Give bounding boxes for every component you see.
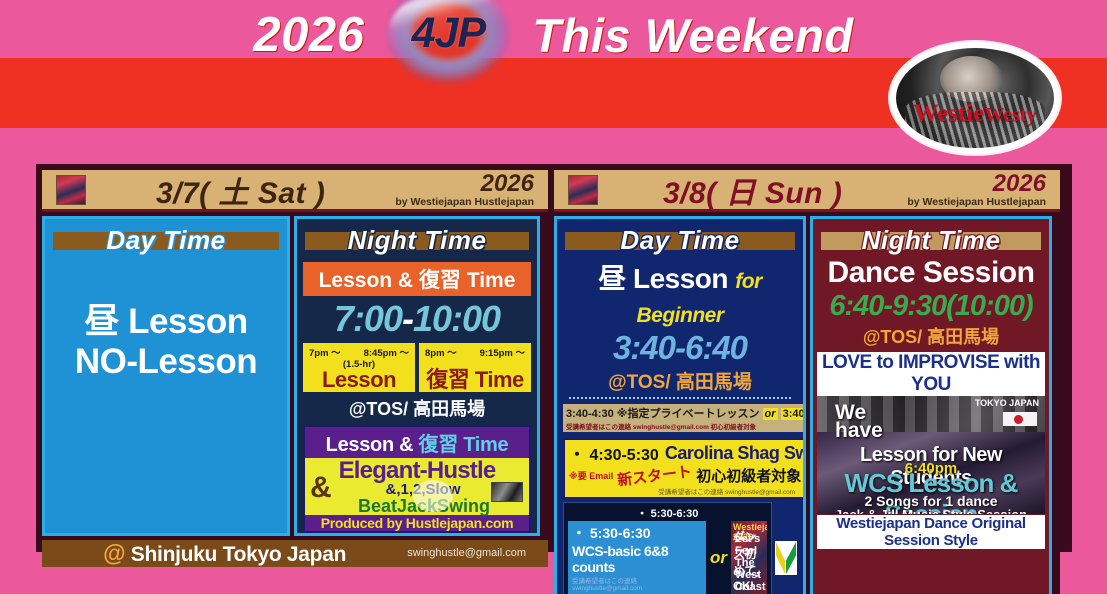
sunday-night-venue: @TOS/ 高田馬場 [813, 323, 1049, 349]
sunday-thumbnail-icon [568, 175, 598, 205]
sunday-carolina-level: 初心初級者対象 [696, 465, 801, 486]
sunday-lesson-row-1-content: 3:40-4:30 ※指定プライベートレッスン or 3:40-4:30 リズム… [563, 404, 806, 432]
saturday-nighttime-column: Night Time Lesson & 復習 Time 7:00-10:00 7… [294, 216, 540, 536]
sunday-header-right: 2026 by Westiejapan Hustlejapan [907, 171, 1046, 207]
saturday-lesson-times: 7pm ～ 8:45pm ～ [306, 345, 412, 359]
sunday-solo-step-photo: Westiejapan 2026 Let's Feel The West Coa… [731, 521, 767, 594]
sunday-date: 3/8( 日 Sun ) [598, 168, 907, 212]
saturday-lesson-time-2: 8:45pm ～ [364, 345, 409, 359]
sunday-row1-label-a: ※指定プライベートレッスン [617, 408, 760, 420]
sunday-daytime-ribbon-label: Day Time [620, 225, 739, 255]
sunday-private-lesson-line: 3:40-4:30 ※指定プライベートレッスン or 3:40-4:30 リズム… [566, 405, 806, 421]
saturday-night-time-start: 7:00 [334, 298, 402, 339]
sunday-daytime-heading-jp: 昼 Lesson [598, 263, 728, 294]
saturday-lesson-label: Lesson [306, 370, 412, 391]
sunday-wcs-bluebox: ・ 5:30-6:30 WCS-basic 6&8 counts 受講希望者はこ… [568, 521, 706, 594]
saturday-lesson-box: 7pm ～ 8:45pm ～ (1.5-hr) Lesson [303, 343, 415, 392]
sunday-lesson-row-2: ・ 4:30-5:30 Carolina Shag Swing Basic ※要… [563, 438, 797, 499]
saturday-night-time-end: 10:00 [413, 298, 500, 339]
sunday-we-have-label: Wehave [835, 404, 883, 440]
sunday-wcs-note: 受講希望者はこの連絡 swinghustle@gmail.com [572, 575, 702, 592]
saturday-yellow-boxes: 7pm ～ 8:45pm ～ (1.5-hr) Lesson 8pm ～ 9:1… [303, 343, 531, 392]
saturday-purple-title: Lesson & 復習 Time [305, 427, 529, 458]
saturday-header-right: 2026 by Westiejapan Hustlejapan [395, 171, 534, 207]
saturday-body: Day Time 昼 Lesson NO-Lesson Night Time L… [42, 212, 548, 540]
sunday-carolina-shag-row: ・ 4:30-5:30 Carolina Shag Swing Basic ※要… [563, 438, 806, 499]
saturday-purple-circle-decor [413, 480, 453, 512]
sunday-daytime-ribbon: Day Time [565, 225, 795, 256]
saturday-daytime-text: 昼 Lesson NO-Lesson [45, 302, 287, 383]
saturday-byline: by Westiejapan Hustlejapan [395, 197, 534, 208]
saturday-daytime-column: Day Time 昼 Lesson NO-Lesson [42, 216, 290, 536]
saturday-review-times: 8pm ～ 9:15pm ～ [422, 345, 528, 359]
sunday-wcs-inner: ・ 5:30-6:30 WCS-basic 6&8 counts 受講希望者はこ… [568, 521, 767, 594]
saturday-review-label: 復習 Time [422, 370, 528, 391]
sunday-daytime-venue: @TOS/ 高田馬場 [557, 367, 803, 394]
saturday-lesson-time-1: 7pm ～ [309, 345, 341, 359]
saturday-nighttime-ribbon-label: Night Time [348, 225, 487, 255]
sunday-night-time: 6:40-9:30(10:00) [813, 290, 1049, 323]
saturday-email: swinghustle@gmail.com [407, 547, 526, 559]
saturday-daytime-line1: 昼 Lesson [45, 302, 287, 342]
saturday-elegant-hustle-label: Elegant-Hustle [305, 459, 529, 483]
saturday-elegant-hustle-block: Lesson & 復習 Time & Elegant-Hustle &,1,2,… [303, 425, 531, 533]
logo-text-light: Westy [984, 104, 1036, 126]
sunday-year: 2026 [907, 171, 1046, 196]
saturday-purple-thumbnail-icon [491, 482, 523, 502]
flyer-page: 2026 4JP This Weekend WestieWesty 3/7( 土… [0, 0, 1107, 594]
sunday-daytime-column: Day Time 昼 Lesson for Beginner 3:40-6:40… [554, 216, 806, 594]
sunday-panel: 3/8( 日 Sun ) 2026 by Westiejapan Hustlej… [554, 170, 1060, 546]
sunday-daytime-time: 3:40-6:40 [557, 329, 803, 367]
sunday-lesson-row-1: 3:40-4:30 ※指定プライベートレッスン or 3:40-4:30 リズム… [563, 401, 797, 435]
sunday-nighttime-ribbon-label: Night Time [862, 225, 1001, 255]
saturday-review-label-jp: 復習 [426, 367, 469, 392]
saturday-lesson-bar: Lesson & 復習 Time [303, 262, 531, 296]
saturday-purple-body: & Elegant-Hustle &,1,2,Slow BeatJackSwin… [305, 458, 529, 515]
chevron-beginner-mark-icon-3 [775, 541, 797, 575]
saturday-header: 3/7( 土 Sat ) 2026 by Westiejapan Hustlej… [42, 170, 548, 212]
sunday-lesson-row-2-content: ・ 4:30-5:30 Carolina Shag Swing Basic ※要… [563, 438, 806, 499]
sunday-love-improvise-bar: LOVE to IMPROVISE with YOU [817, 352, 1045, 396]
saturday-review-label-en: Time [475, 367, 524, 392]
sunday-tokyo-japan-label: TOKYO JAPAN [975, 398, 1039, 408]
sunday-night-photo-block: Definitely Skills Up TOKYO JAPAN Wehave … [817, 396, 1045, 514]
banner-title: This Weekend [532, 12, 853, 59]
sunday-wcs-or: or [710, 548, 727, 568]
sunday-wcs-basic-row: ・ 5:30-6:30 ・ 5:30-6:30 WCS-basic 6&8 co… [563, 502, 772, 594]
westie-westy-logo: WestieWesty [890, 42, 1060, 154]
sunday-carolina-email-note: ※要 Email [569, 469, 613, 482]
sunday-carolina-note: 受講希望者はこの連絡 swinghustle@gmail.com [569, 486, 806, 496]
saturday-thumbnail-icon [56, 175, 86, 205]
sunday-row1-or: or [763, 408, 778, 420]
sunday-nighttime-column: Night Time Dance Session 6:40-9:30(10:00… [810, 216, 1052, 594]
at-icon: @ [103, 540, 125, 566]
sunday-divider [569, 397, 791, 399]
sunday-carolina-bottom: ※要 Email 新スタート 初心初級者対象 [569, 465, 806, 486]
saturday-daytime-ribbon: Day Time [53, 225, 279, 256]
sunday-carolina-time: ・ 4:30-5:30 [569, 441, 659, 465]
sunday-row1-label-b: 3:40-4:30 リズムトレーニング [781, 408, 806, 420]
saturday-purple-title-a: Lesson & [326, 434, 419, 456]
saturday-date: 3/7( 土 Sat ) [86, 168, 395, 212]
sunday-row1-note: 受講希望者はこの連絡 swinghustle@gmail.com 初心初級者対象 [566, 421, 806, 431]
saturday-panel: 3/7( 土 Sat ) 2026 by Westiejapan Hustlej… [42, 170, 548, 546]
sunday-header: 3/8( 日 Sun ) 2026 by Westiejapan Hustlej… [554, 170, 1060, 212]
saturday-location-label: Shinjuku Tokyo Japan [131, 543, 346, 566]
sunday-daytime-heading: 昼 Lesson for Beginner [557, 257, 803, 329]
sunday-love-improvise-label: LOVE to IMPROVISE with YOU [817, 352, 1045, 396]
saturday-produced-by: Produced by Hustlejapan.com [305, 515, 529, 531]
sunday-photo-line3: ダンス初めて，OK! [733, 528, 767, 593]
sunday-original-session-style: Westiejapan Dance Original Session Style [817, 515, 1045, 549]
flag-label: 4JP [412, 9, 486, 58]
saturday-purple-ampersand: & [310, 476, 332, 500]
logo-text: WestieWesty [896, 101, 1054, 126]
saturday-purple-title-b: 復習 Time [419, 434, 509, 456]
japan-flag-icon [1003, 412, 1037, 426]
saturday-footer: @ Shinjuku Tokyo Japan swinghustle@gmail… [42, 540, 548, 567]
logo-photo: WestieWesty [896, 48, 1054, 148]
sunday-wcs-time: ・ 5:30-6:30 [572, 523, 702, 543]
schedule-board: 3/7( 土 Sat ) 2026 by Westiejapan Hustlej… [36, 164, 1072, 552]
sunday-body: Day Time 昼 Lesson for Beginner 3:40-6:40… [554, 212, 1060, 594]
saturday-review-time-2: 9:15pm ～ [480, 345, 525, 359]
banner-year: 2026 [253, 11, 364, 60]
saturday-review-box: 8pm ～ 9:15pm ～ 復習 Time [419, 343, 531, 392]
saturday-review-time-1: 8pm ～ [425, 345, 457, 359]
sunday-row1-time-a: 3:40-4:30 [566, 408, 617, 420]
sunday-wcs-title: WCS-basic 6&8 counts [572, 543, 702, 575]
sunday-jack-jill-label: Jack & Jill Music Style Session [817, 507, 1045, 514]
saturday-night-venue: @TOS/ 高田馬場 [297, 395, 537, 421]
sunday-lesson-row-3-content: ・ 5:30-6:30 ・ 5:30-6:30 WCS-basic 6&8 co… [563, 502, 772, 594]
sunday-dance-session-title: Dance Session [813, 256, 1049, 290]
sunday-byline: by Westiejapan Hustlejapan [907, 197, 1046, 208]
sunday-lesson-row-3: ・ 5:30-6:30 ・ 5:30-6:30 WCS-basic 6&8 co… [563, 502, 797, 594]
sunday-private-lesson-row: 3:40-4:30 ※指定プライベートレッスン or 3:40-4:30 リズム… [563, 404, 806, 432]
sunday-wcs-header-time: ・ 5:30-6:30 [568, 505, 767, 521]
saturday-year: 2026 [395, 171, 534, 196]
saturday-location: @ Shinjuku Tokyo Japan [42, 540, 407, 567]
sunday-nighttime-ribbon: Night Time [821, 225, 1041, 256]
saturday-nighttime-ribbon: Night Time [305, 225, 529, 256]
saturday-night-time: 7:00-10:00 [297, 298, 537, 340]
saturday-daytime-line2: NO-Lesson [45, 342, 287, 382]
saturday-daytime-ribbon-label: Day Time [106, 225, 225, 255]
japan-flag-badge: 4JP [382, 0, 514, 89]
saturday-night-time-dash: - [402, 298, 413, 339]
logo-text-bold: Westie [913, 100, 984, 127]
